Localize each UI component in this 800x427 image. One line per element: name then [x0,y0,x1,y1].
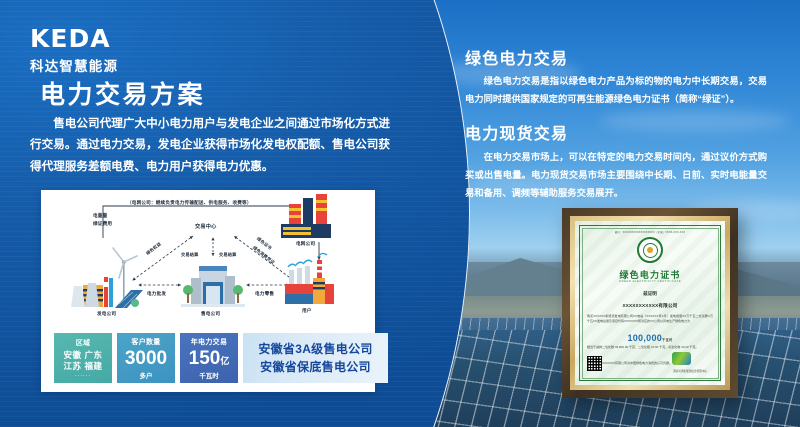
stat-volume-number: 150 [189,348,221,369]
certificate-emission-text: 相当于减排二氧化碳 49,800.00 千克，二氧化硫 47.00 千克，氮氧化… [587,345,713,350]
stat-customers-caption: 客户数量 [131,337,160,347]
emblem-inner-ring [643,243,658,258]
region-anhui: 安徽 [64,350,82,360]
stat-customers-value: 3000 [125,349,167,368]
icon-user-factory [285,253,334,304]
icon-generator-plant [71,248,143,308]
certificate-amount-value: 100,000 [627,333,662,343]
stat-customers-unit: 多户 [140,370,153,380]
section-heading-spot-trading: 电力现货交易 [465,120,568,144]
slide-root: KEDA 科达智慧能源 电力交易方案 售电公司代理广大中小电力用户与发电企业之间… [0,0,800,427]
certificate-company: XXXXXXXXXXX有限公司 [575,303,725,309]
stat-volume-unit: 千瓦时 [199,370,219,380]
section-heading-green-power: 绿色电力交易 [465,45,568,69]
stat-volume-value: 150亿 [189,349,230,368]
badge-line-1: 安徽省3A级售电公司 [258,340,372,358]
region-jiangsu: 江苏 [64,361,82,371]
certificate-qr-code [587,356,602,371]
icon-grid-company [281,194,331,238]
certificate-amount: 100,000千瓦时 [575,333,725,343]
power-trading-flow-diagram: （电网公司：继续负责电力传输配送、供电服务、收费等） 电量量 绿证费用 交易中心… [41,190,375,330]
certificate-frame: 编号：XXXXXXXXXXXXXXXXXX（全国）XXXX-XXX-XXX 绿色… [562,208,738,398]
certificate-issuer: 国家可再生能源信息管理中心 [673,369,707,373]
certificate-emblem-icon [637,237,663,263]
diagram-settle-left: 交易结算 [181,252,199,258]
certificate-subtitle: 兹证明 [575,291,725,297]
diagram-node-generator: 发电公司 [97,311,116,317]
section-body-spot-trading: 在电力交易市场上，可以在特定的电力交易时间内，通过议价方式购买或出售电量。电力现… [465,148,767,202]
brand-logo-name: 科达智慧能源 [30,55,118,75]
stats-row: 区域 安徽 广东 江苏 福建 ...... 客户数量 3000 多户 年电力交易… [54,333,388,383]
region-fujian: 福建 [84,361,102,371]
certificate-title-english: GREEN ELECTRICITY CERTIFICATE [575,279,725,283]
diagram-node-user: 用户 [302,308,312,314]
diagram-center-title: 交易中心 [195,223,217,230]
icon-retailer-building [181,266,245,307]
diagram-svg [41,190,375,330]
diagram-card: （电网公司：继续负责电力传输配送、供电服务、收费等） 电量量 绿证费用 交易中心… [41,190,375,392]
brand-logo-mark: KEDA [30,26,118,51]
brand-logo: KEDA 科达智慧能源 [30,26,118,75]
diagram-settle-right: 交易结算 [219,252,237,258]
certificate-amount-unit: 千瓦时 [662,338,672,342]
stat-card-annual-volume: 年电力交易 150亿 千瓦时 [180,333,238,383]
stat-region-values: 安徽 广东 江苏 福建 [64,350,103,371]
stat-card-region: 区域 安徽 广东 江苏 福建 ...... [54,333,112,383]
stat-volume-caption: 年电力交易 [191,337,228,347]
diagram-node-retailer: 售电公司 [201,311,220,317]
cloud-decor [600,110,790,132]
certificate-footer-text: 根据XXXXXXXXXXX有限公司对中国绿色电力消费的认可凭据。 [587,361,713,366]
section-body-green-power: 绿色电力交易是指以绿色电力产品为标的物的电力中长期交易，交易电力同时提供国家规定… [465,72,767,108]
diagram-left-note-1: 电量量 [93,213,107,219]
badge-line-2: 安徽省保底售电公司 [260,358,371,376]
page-intro-paragraph: 售电公司代理广大中小电力用户与发电企业之间通过市场化方式进行交易。通过电力交易，… [30,113,390,177]
region-guangdong: 广东 [84,350,102,360]
diagram-retail-label: 电力零售 [255,291,274,297]
certificate-body-text: 购买XXXXXX新能源发电有限公司XX电站（XXXXXX年X月）发电用量XX万千… [587,314,713,323]
diagram-node-grid: 电网公司 [296,241,315,247]
stat-volume-scale: 亿 [220,356,229,366]
page-title: 电力交易方案 [40,75,205,111]
qualification-badge: KEDA 安徽省3A级售电公司 安徽省保底售电公司 [243,333,388,383]
stat-card-customers: 客户数量 3000 多户 [117,333,175,383]
diagram-top-note: （电网公司：继续负责电力传输配送、供电服务、收费等） [127,200,252,206]
certificate-paper: 编号：XXXXXXXXXXXXXXXXXX（全国）XXXX-XXX-XXX 绿色… [575,221,725,385]
certificate-serial: 编号：XXXXXXXXXXXXXXXXXX（全国）XXXX-XXX-XXX [575,230,725,234]
certificate-seal-logo [672,352,691,365]
diagram-left-note-2: 绿证费用 [93,221,112,227]
badge-watermark: KEDA [243,333,247,383]
stat-region-caption: 区域 [76,338,91,348]
certificate-gold-mat: 编号：XXXXXXXXXXXXXXXXXX（全国）XXXX-XXX-XXX 绿色… [570,216,730,390]
diagram-wholesale-label: 电力批发 [147,291,166,297]
emblem-center-dot [647,247,653,253]
stat-region-ellipsis: ...... [75,372,91,378]
